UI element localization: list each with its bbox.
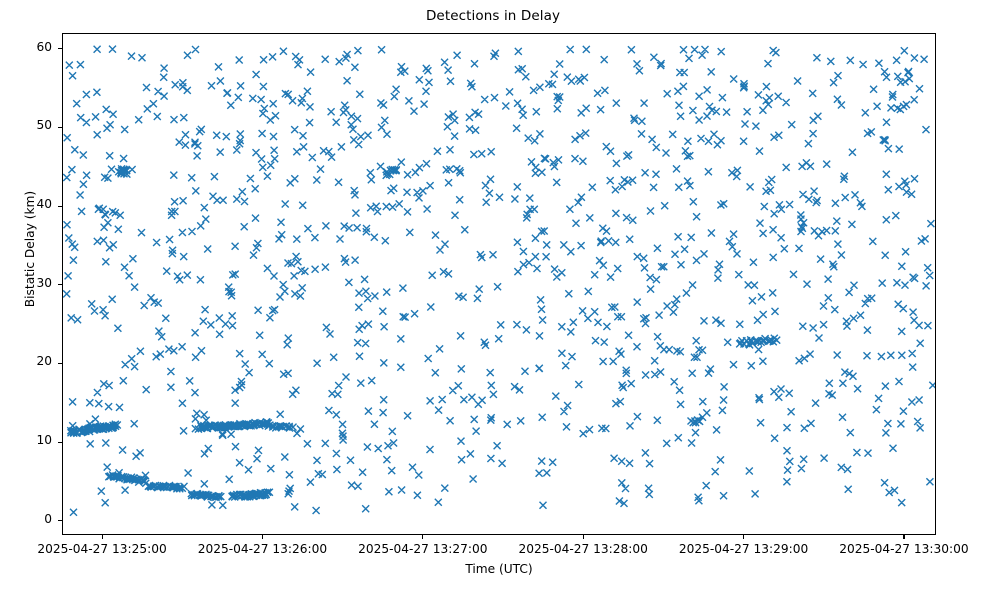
y-tick-mark [58, 48, 62, 49]
x-tick-mark [262, 535, 263, 539]
y-tick-mark [58, 206, 62, 207]
y-tick-label: 0 [44, 512, 52, 526]
scatter-markers [63, 46, 936, 516]
y-tick-label: 40 [36, 197, 52, 211]
x-tick-label: 2025-04-27 13:30:00 [814, 542, 986, 556]
x-tick-mark [903, 535, 904, 539]
x-tick-mark [583, 535, 584, 539]
y-tick-mark [58, 363, 62, 364]
page-title: Detections in Delay [0, 8, 986, 24]
plot-area [62, 33, 936, 535]
y-tick-label: 60 [36, 40, 52, 54]
x-tick-label: 2025-04-27 13:29:00 [654, 542, 834, 556]
y-tick-mark [58, 442, 62, 443]
x-tick-label: 2025-04-27 13:26:00 [172, 542, 352, 556]
x-tick-mark [743, 535, 744, 539]
x-tick-label: 2025-04-27 13:27:00 [333, 542, 513, 556]
y-tick-label: 50 [36, 118, 52, 132]
x-tick-label: 2025-04-27 13:28:00 [493, 542, 673, 556]
y-tick-mark [58, 127, 62, 128]
x-axis-label: Time (UTC) [62, 562, 936, 576]
x-tick-mark [422, 535, 423, 539]
y-tick-label: 20 [36, 354, 52, 368]
matplotlib-figure: Detections in Delay Bistatic Delay (km) … [0, 0, 986, 590]
y-axis-label: Bistatic Delay (km) [23, 59, 37, 439]
x-tick-label: 2025-04-27 13:25:00 [12, 542, 192, 556]
y-tick-label: 10 [36, 433, 52, 447]
y-tick-mark [58, 520, 62, 521]
scatter-point-group [63, 46, 936, 516]
y-tick-label: 30 [36, 276, 52, 290]
y-tick-mark [58, 284, 62, 285]
scatter-layer [63, 34, 936, 535]
x-tick-mark [102, 535, 103, 539]
